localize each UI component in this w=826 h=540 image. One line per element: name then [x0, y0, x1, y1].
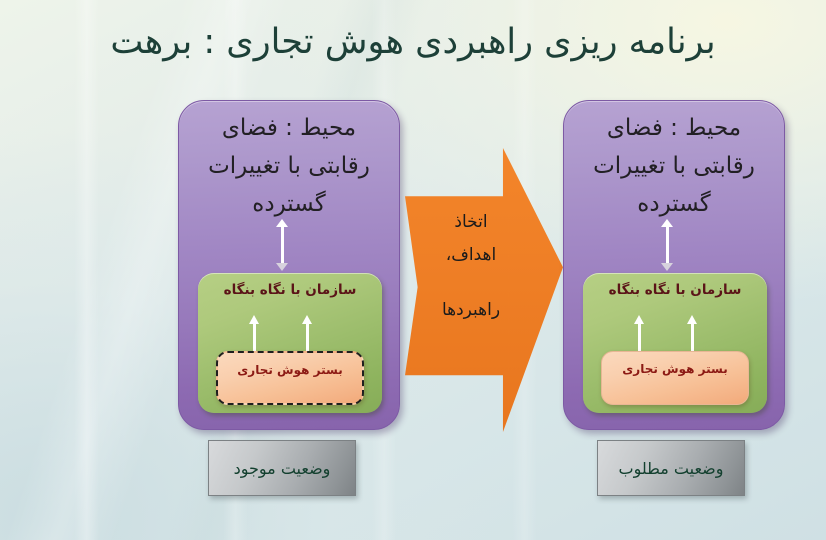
bi-platform-box-current[interactable]: بستر هوش تجاری — [216, 351, 364, 405]
arrow-head-down-icon — [276, 263, 288, 271]
transition-arrow-line2: اهداف، — [446, 245, 496, 265]
organization-label-target: سازمان با نگاه بنگاه — [591, 280, 759, 300]
transition-arrow-line1: اتخاذ — [454, 212, 487, 232]
arrow-stem — [253, 323, 256, 353]
bi-platform-label-target: بستر هوش تجاری — [608, 360, 742, 378]
arrow-stem — [666, 226, 669, 264]
organization-box-target[interactable]: سازمان با نگاه بنگاه بستر هوش تجاری — [583, 273, 767, 413]
transition-arrow[interactable]: اتخاذ اهداف، راهبردها — [405, 148, 563, 432]
state-caption-current: وضعیت موجود — [208, 440, 356, 496]
environment-label-current: محیط : فضای رقابتی با تغییرات گسترده — [189, 109, 389, 223]
environment-organization-arrow-left — [276, 219, 289, 271]
page-title: برنامه ریزی راهبردی هوش تجاری : برهت — [0, 10, 826, 74]
state-caption-target: وضعیت مطلوب — [597, 440, 745, 496]
environment-organization-arrow-right — [661, 219, 674, 271]
organization-box-current[interactable]: سازمان با نگاه بنگاه بستر هوش تجاری — [198, 273, 382, 413]
bi-to-organization-arrow-right-a — [634, 315, 645, 353]
arrow-stem — [691, 323, 694, 353]
bi-to-organization-arrow-right-b — [687, 315, 698, 353]
arrow-stem — [281, 226, 284, 264]
environment-card-target[interactable]: محیط : فضای رقابتی با تغییرات گسترده ساز… — [563, 100, 785, 430]
transition-arrow-line3: راهبردها — [419, 294, 523, 327]
arrow-stem — [638, 323, 641, 353]
arrow-head-down-icon — [661, 263, 673, 271]
environment-label-target: محیط : فضای رقابتی با تغییرات گسترده — [574, 109, 774, 223]
environment-card-current[interactable]: محیط : فضای رقابتی با تغییرات گسترده ساز… — [178, 100, 400, 430]
bi-platform-box-target[interactable]: بستر هوش تجاری — [601, 351, 749, 405]
bi-platform-label-current: بستر هوش تجاری — [224, 361, 356, 379]
transition-arrow-text: اتخاذ اهداف، راهبردها — [419, 206, 523, 327]
bi-to-organization-arrow-left-b — [302, 315, 313, 353]
arrow-stem — [306, 323, 309, 353]
bi-to-organization-arrow-left-a — [249, 315, 260, 353]
slide-canvas: برنامه ریزی راهبردی هوش تجاری : برهت محی… — [0, 0, 826, 540]
organization-label-current: سازمان با نگاه بنگاه — [206, 280, 374, 300]
